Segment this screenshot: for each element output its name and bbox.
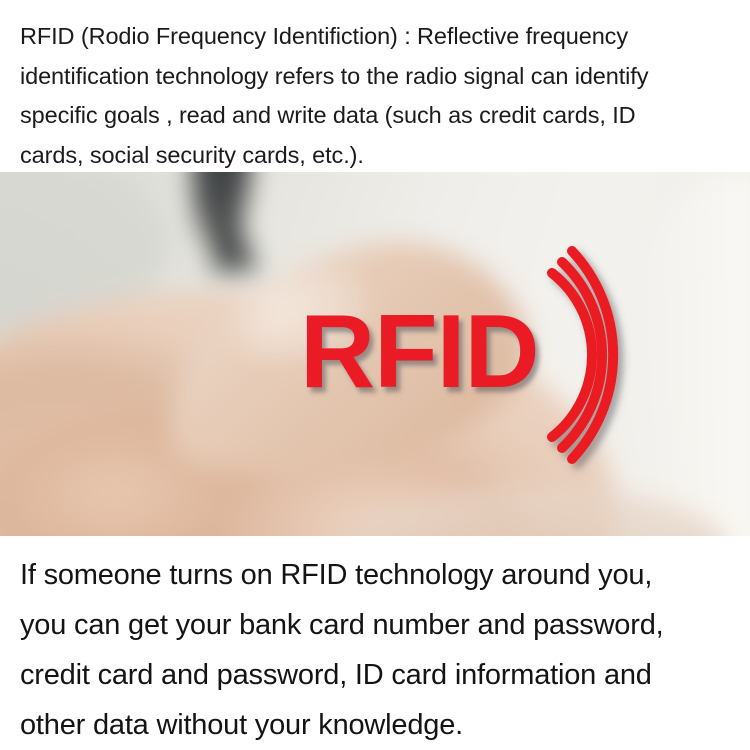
top-description-line-1: RFID (Rodio Frequency Identifiction) : R…: [20, 17, 728, 57]
hero-photo-blurred-background: [0, 172, 750, 536]
bottom-description-text: If someone turns on RFID technology arou…: [0, 536, 750, 750]
bottom-description-line-2: you can get your bank card number and pa…: [20, 600, 730, 650]
bottom-description-line-3: credit card and password, ID card inform…: [20, 650, 730, 700]
top-description-line-3: specific goals , read and write data (su…: [20, 96, 728, 136]
top-description-line-4: cards, social security cards, etc.).: [20, 136, 728, 173]
bottom-description-line-4: other data without your knowledge.: [20, 700, 730, 750]
hero-photo: RFID: [0, 172, 750, 536]
top-description-text: RFID (Rodio Frequency Identifiction) : R…: [0, 0, 750, 172]
top-description-line-2: identification technology refers to the …: [20, 57, 728, 97]
bottom-description-line-1: If someone turns on RFID technology arou…: [20, 550, 730, 600]
product-description-page: RFID (Rodio Frequency Identifiction) : R…: [0, 0, 750, 750]
